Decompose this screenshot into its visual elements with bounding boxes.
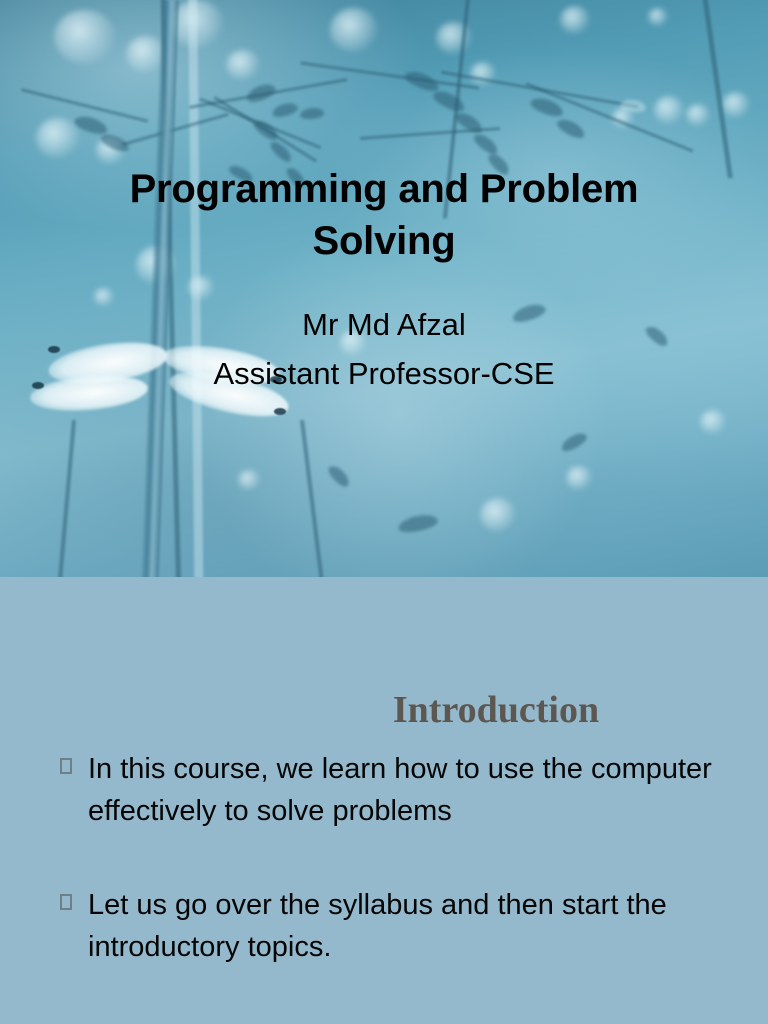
page-title: Introduction (306, 687, 686, 733)
title-slide-text-block: Programming and Problem Solving Mr Md Af… (0, 0, 768, 577)
list-item: Let us go over the syllabus and then sta… (56, 884, 716, 968)
introduction-slide: Introduction In this course, we learn ho… (0, 577, 768, 1024)
list-item-label: In this course, we learn how to use the … (88, 748, 716, 832)
slides-page: Programming and Problem Solving Mr Md Af… (0, 0, 768, 1024)
slide-title: Programming and Problem Solving (64, 163, 704, 267)
missing-glyph-box-icon (60, 758, 72, 774)
title-slide: Programming and Problem Solving Mr Md Af… (0, 0, 768, 577)
missing-glyph-box-icon (60, 894, 72, 910)
slide-subtitle: Mr Md Afzal Assistant Professor-CSE (64, 300, 704, 398)
list-item-label: Let us go over the syllabus and then sta… (88, 884, 716, 968)
subtitle-line-designation: Assistant Professor-CSE (64, 349, 704, 398)
list-item: In this course, we learn how to use the … (56, 748, 716, 832)
bullet-list: In this course, we learn how to use the … (56, 748, 716, 968)
subtitle-line-presenter: Mr Md Afzal (64, 300, 704, 349)
